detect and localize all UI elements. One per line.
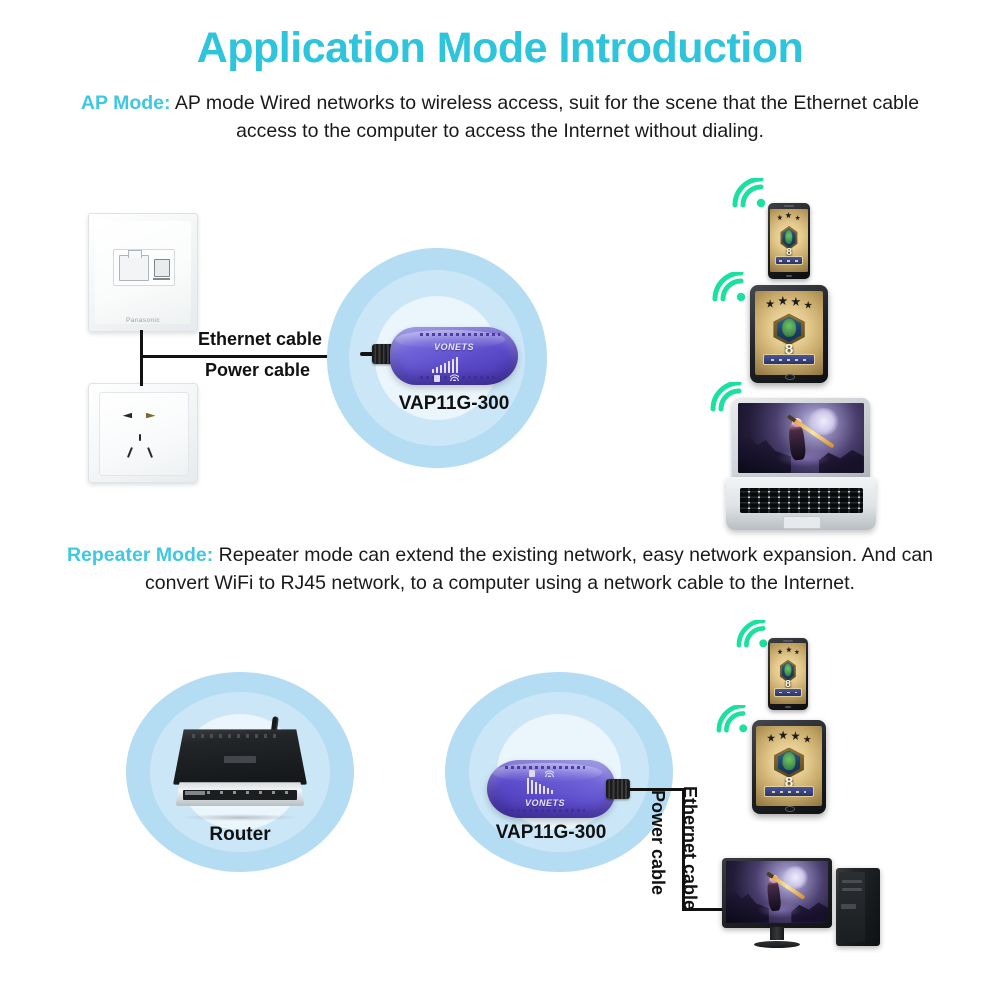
game-star <box>785 212 791 219</box>
ap-mode-description: AP mode Wired networks to wireless acces… <box>175 92 919 142</box>
game-screen: 8 <box>770 209 807 272</box>
ap-ethernet-cable-label: Ethernet cable <box>198 329 322 350</box>
monitor-stand-neck <box>770 927 783 940</box>
game-star <box>777 214 783 220</box>
battle-game-screen <box>726 861 828 922</box>
repeater-client-smartphone: 8 <box>768 638 808 710</box>
laptop-screen <box>738 403 864 473</box>
game-banner <box>774 688 801 697</box>
game-star <box>767 734 775 743</box>
phone-home-button <box>786 275 793 277</box>
monitor-screen <box>726 861 828 922</box>
infographic-page: Application Mode Introduction AP Mode: A… <box>0 0 1000 1000</box>
repeater-vap11g-device: VONETS <box>487 760 615 818</box>
tower-brand-logo <box>841 904 856 909</box>
ap-mode-paragraph: AP Mode: AP mode Wired networks to wirel… <box>60 90 940 145</box>
device-vent-bottom <box>420 376 500 379</box>
game-star <box>766 299 775 308</box>
laptop-trackpad <box>783 516 821 529</box>
repeater-device-label: VAP11G-300 <box>475 822 627 844</box>
phone-frame: 8 <box>768 638 808 710</box>
socket-pin-top <box>139 434 141 441</box>
wifi-signal-icon-tablet-ap <box>712 272 746 302</box>
device-vent-top <box>420 333 500 336</box>
ap-power-cable-label: Power cable <box>205 360 310 381</box>
monitor-frame <box>722 858 832 928</box>
device-vent-top <box>505 766 585 769</box>
game-star <box>804 301 812 309</box>
page-title: Application Mode Introduction <box>0 26 1000 71</box>
game-star <box>791 297 801 307</box>
tablet-frame: 8 <box>750 285 828 383</box>
phone-speaker <box>783 640 793 642</box>
wall-plate-brand: Panasonic <box>89 317 197 324</box>
device-wifi-indicator-icon <box>545 770 554 777</box>
tablet-home-button <box>785 374 795 380</box>
ap-client-tablet: 8 <box>750 285 828 383</box>
repeater-router <box>173 703 307 823</box>
game-hero-avatar <box>782 319 796 337</box>
ap-device-label: VAP11G-300 <box>378 393 530 415</box>
repeater-mode-description: Repeater mode can extend the existing ne… <box>145 544 933 594</box>
repeater-client-desktop-tower <box>836 868 880 946</box>
battle-game-screen <box>738 403 864 473</box>
game-star <box>786 646 792 653</box>
game-star <box>778 296 788 306</box>
router-label: Router <box>180 824 300 846</box>
game-hero-avatar <box>782 752 795 770</box>
tablet-frame: 8 <box>752 720 826 814</box>
game-star <box>779 730 788 740</box>
device-brand-logo: VONETS <box>525 798 565 808</box>
game-star <box>803 735 811 743</box>
monitor-stand-base <box>754 941 800 948</box>
repeater-ethernet-cable-label: Ethernet cable <box>679 786 700 910</box>
router-leds <box>207 791 292 794</box>
wifi-signal-icon-phone-repeater <box>736 620 768 648</box>
rj45-socket <box>113 249 175 286</box>
router-vent-holes <box>192 734 278 738</box>
device-signal-bars <box>432 357 458 373</box>
repeater-cable-connector <box>606 779 630 799</box>
phone-speaker <box>784 205 794 207</box>
repeater-client-tablet: 8 <box>752 720 826 814</box>
rj45-symbol-icon <box>154 259 171 277</box>
game-screen: 8 <box>770 643 806 703</box>
phone-screen: 8 <box>770 209 807 272</box>
ap-client-smartphone: 8 <box>768 203 810 279</box>
socket-pin-bottom-left <box>127 447 133 458</box>
device-signal-bars <box>527 778 553 794</box>
wifi-signal-icon-tablet-repeater <box>716 705 748 733</box>
ap-cable-vertical <box>140 330 143 386</box>
device-lan-indicator-icon <box>434 375 440 382</box>
laptop-lid <box>732 398 870 479</box>
game-screen: 8 <box>756 726 821 806</box>
repeater-power-cable-label: Power cable <box>647 790 668 895</box>
device-body: VONETS <box>487 760 615 818</box>
game-star <box>794 649 799 654</box>
tablet-screen: 8 <box>756 726 821 806</box>
socket-slot-left <box>123 413 133 419</box>
game-star <box>795 215 800 221</box>
game-star <box>777 649 782 655</box>
socket-slot-right <box>146 413 156 419</box>
device-body: VONETS <box>390 327 518 385</box>
repeater-mode-paragraph: Repeater Mode: Repeater mode can extend … <box>40 542 960 597</box>
tower-drive-slot <box>842 888 861 891</box>
router-front-panel <box>176 782 305 806</box>
ap-mode-label: AP Mode: <box>81 92 171 114</box>
game-screen: 8 <box>755 291 824 375</box>
game-hero-avatar <box>784 663 791 676</box>
laptop-keyboard <box>740 488 863 513</box>
router-brand-logo <box>224 756 256 763</box>
game-banner <box>764 786 814 797</box>
device-lan-indicator-icon <box>529 770 535 777</box>
ethernet-wall-plate: Panasonic <box>88 213 198 332</box>
rj45-port-icon <box>119 255 149 281</box>
repeater-mode-label: Repeater Mode: <box>67 544 213 566</box>
device-wifi-indicator-icon <box>450 374 459 381</box>
socket-pin-bottom-right <box>147 447 153 458</box>
wifi-signal-icon-phone-ap <box>732 178 766 208</box>
ap-client-laptop <box>726 398 876 530</box>
phone-screen: 8 <box>770 643 806 703</box>
power-socket <box>88 383 198 483</box>
game-banner <box>763 354 815 365</box>
router-model-text <box>185 791 206 795</box>
tablet-home-button <box>785 806 794 812</box>
socket-face <box>99 392 190 476</box>
router-shadow <box>181 814 299 821</box>
phone-home-button <box>785 706 791 708</box>
device-brand-logo: VONETS <box>434 342 474 352</box>
device-vent-bottom <box>505 809 585 812</box>
ap-vap11g-device: VONETS <box>390 327 518 385</box>
game-banner <box>775 256 803 265</box>
repeater-client-monitor <box>722 858 832 948</box>
phone-frame: 8 <box>768 203 810 279</box>
tablet-screen: 8 <box>755 291 824 375</box>
game-star <box>791 731 800 741</box>
